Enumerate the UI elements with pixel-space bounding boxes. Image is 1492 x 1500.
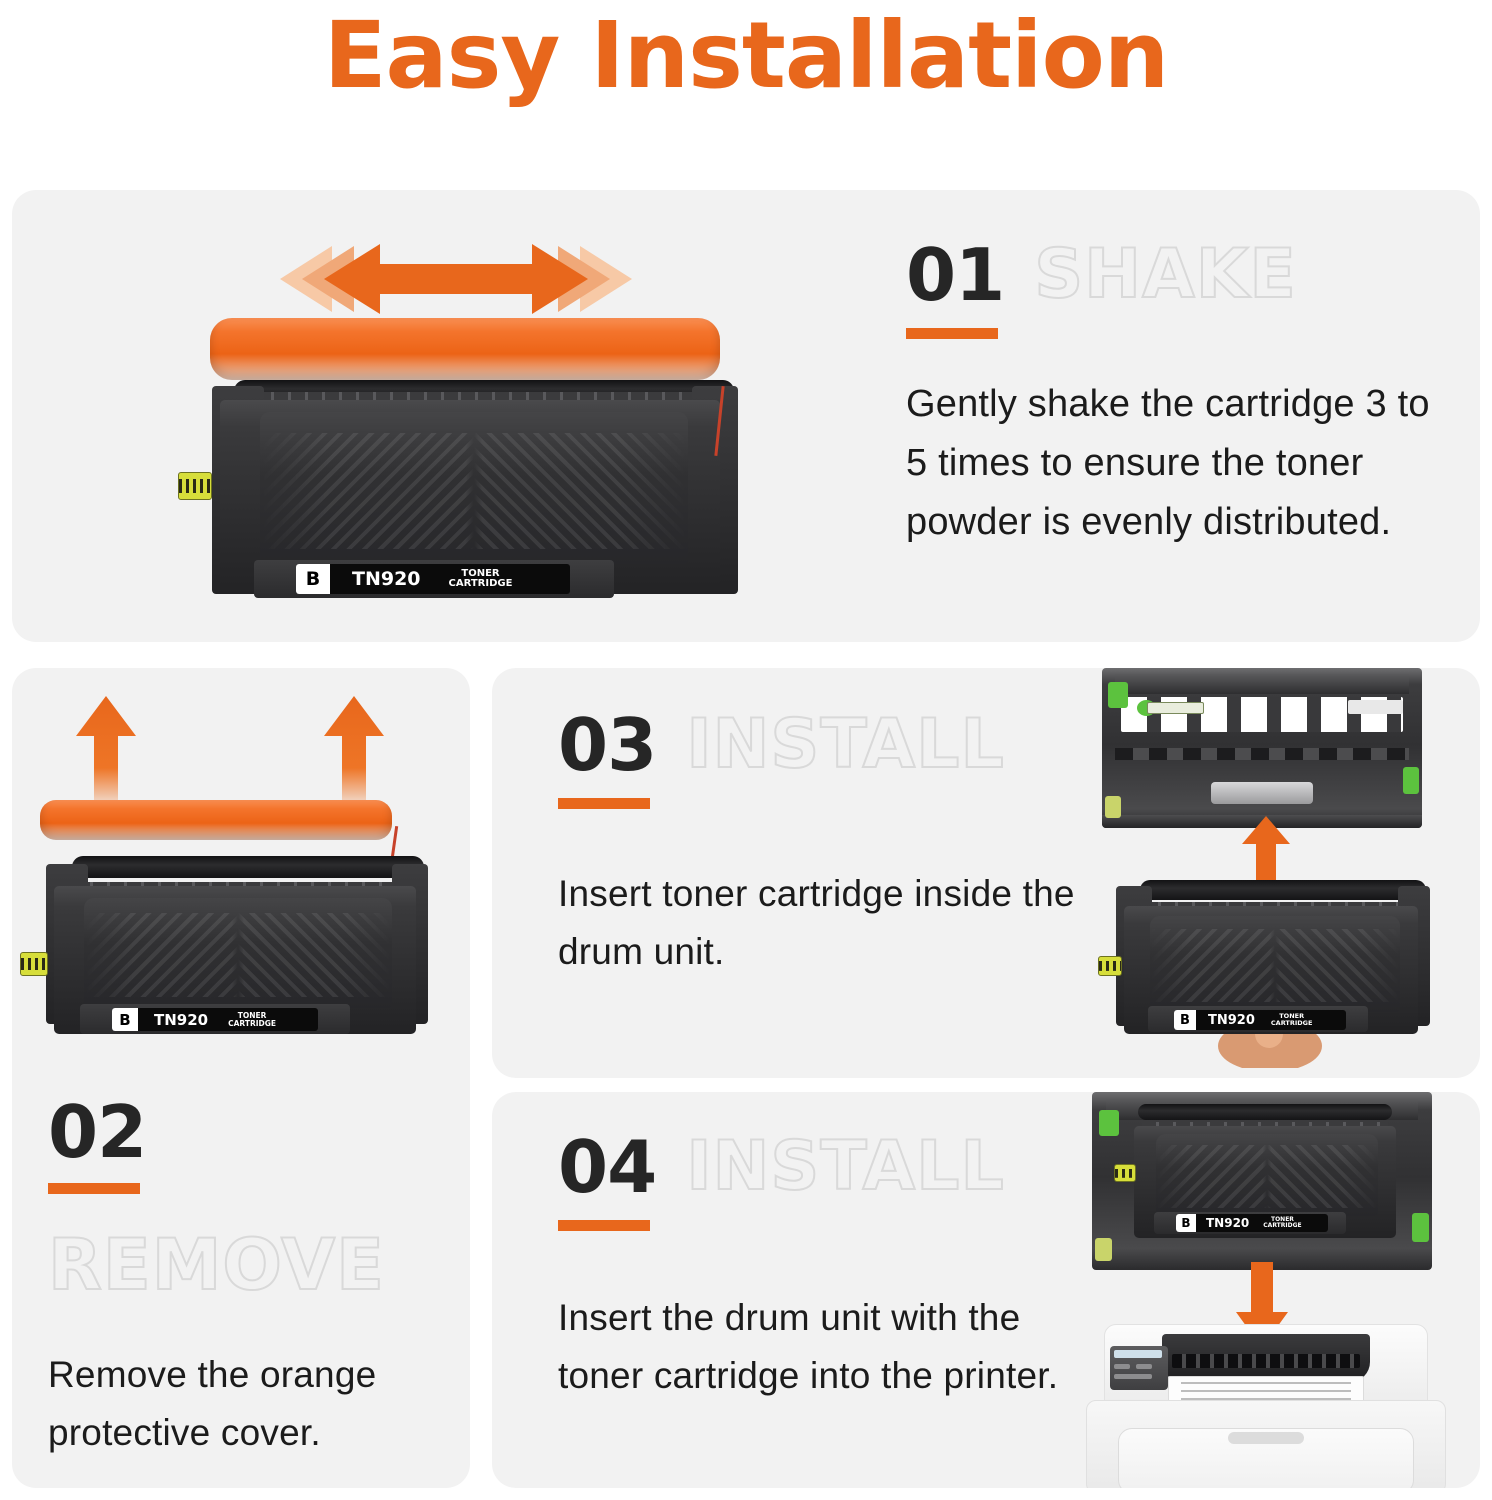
step-header-04: 04 INSTALL bbox=[558, 1130, 1098, 1204]
cartridge-label: B TN920 TONER CARTRIDGE bbox=[1176, 1214, 1328, 1232]
step-rule-04 bbox=[558, 1220, 650, 1231]
step-body-02: Remove the orange protective cover. bbox=[48, 1346, 448, 1462]
label-type-line2: CARTRIDGE bbox=[228, 1020, 276, 1028]
step-body-01: Gently shake the cartridge 3 to 5 times … bbox=[906, 375, 1446, 552]
chevron-texture-right bbox=[260, 433, 688, 549]
label-model: TN920 bbox=[1206, 1216, 1249, 1230]
step-number-01: 01 bbox=[906, 238, 1004, 312]
step-header-01: 01 SHAKE bbox=[906, 238, 1446, 312]
label-color-code: B bbox=[1176, 1214, 1196, 1232]
drum-roller bbox=[1140, 880, 1426, 900]
easy-installation-infographic: Easy Installation bbox=[0, 0, 1492, 1500]
step-keyword-03: INSTALL bbox=[686, 708, 1005, 782]
drum-center-tray bbox=[1211, 782, 1313, 804]
label-model: TN920 bbox=[154, 1011, 208, 1029]
step-number-02: 02 bbox=[48, 1095, 448, 1169]
label-type: TONER CARTRIDGE bbox=[449, 569, 513, 590]
cartridge-label: B TN920 TONER CARTRIDGE bbox=[296, 564, 570, 594]
label-type: TONER CARTRIDGE bbox=[228, 1012, 276, 1028]
green-lever-bottom-right bbox=[1403, 767, 1419, 794]
cartridge-textured-face bbox=[1150, 916, 1400, 1012]
cartridge-label: B TN920 TONER CARTRIDGE bbox=[1174, 1010, 1346, 1030]
drum-badge bbox=[1348, 700, 1402, 714]
laser-printer-illustration bbox=[1076, 1324, 1452, 1488]
toner-cartridge-illustration-uncovered: B TN920 TONER CARTRIDGE bbox=[20, 856, 440, 1072]
step-text-02: 02 REMOVE Remove the orange protective c… bbox=[48, 1095, 448, 1462]
toner-cartridge-illustration: B TN920 TONER CARTRIDGE bbox=[172, 308, 752, 608]
printer-button-2[interactable] bbox=[1136, 1364, 1152, 1369]
label-type: TONER CARTRIDGE bbox=[1271, 1013, 1313, 1027]
step-text-04: 04 INSTALL Insert the drum unit with the… bbox=[558, 1130, 1098, 1405]
step-text-03: 03 INSTALL Insert toner cartridge inside… bbox=[558, 708, 1078, 981]
step-rule-01 bbox=[906, 328, 998, 339]
drum-white-slider-track bbox=[1147, 702, 1205, 715]
toner-chip bbox=[1114, 1164, 1136, 1182]
label-color-code: B bbox=[112, 1008, 138, 1031]
step-keyword-04: INSTALL bbox=[686, 1130, 1005, 1204]
step-body-03: Insert toner cartridge inside the drum u… bbox=[558, 865, 1078, 981]
step-number-03: 03 bbox=[558, 708, 656, 782]
green-lever-bottom-right bbox=[1412, 1213, 1429, 1241]
label-type: TONER CARTRIDGE bbox=[1263, 1217, 1301, 1230]
printer-button-1[interactable] bbox=[1114, 1364, 1130, 1369]
label-type-line2: CARTRIDGE bbox=[449, 579, 513, 590]
toner-chip bbox=[178, 472, 212, 500]
step-header-03: 03 INSTALL bbox=[558, 708, 1078, 782]
up-arrow-icon bbox=[1240, 816, 1292, 886]
label-type-line2: CARTRIDGE bbox=[1271, 1020, 1313, 1027]
drum-roller bbox=[72, 856, 424, 878]
step-keyword-02: REMOVE bbox=[48, 1228, 448, 1302]
page-title: Easy Installation bbox=[0, 2, 1492, 110]
toner-chip bbox=[1098, 956, 1122, 976]
printer-lcd-display bbox=[1114, 1350, 1162, 1358]
chevron-texture-right bbox=[1156, 1145, 1378, 1207]
step-rule-03 bbox=[558, 798, 650, 809]
toner-cartridge-inside-drum: B TN920 TONER CARTRIDGE bbox=[1114, 1104, 1414, 1256]
printer-button-3[interactable] bbox=[1114, 1374, 1152, 1379]
cartridge-textured-face bbox=[1156, 1134, 1378, 1216]
chevron-texture-right bbox=[1150, 929, 1400, 1002]
up-arrow-left-icon bbox=[74, 696, 138, 812]
green-lever-top-left bbox=[1108, 682, 1127, 708]
step-keyword-01: SHAKE bbox=[1034, 238, 1297, 312]
step-number-04: 04 bbox=[558, 1130, 656, 1204]
up-arrow-right-icon bbox=[322, 696, 386, 812]
toner-chip bbox=[20, 952, 48, 976]
printer-drawer-handle[interactable] bbox=[1228, 1432, 1304, 1444]
label-type-line2: CARTRIDGE bbox=[1263, 1223, 1301, 1229]
drum-unit-illustration bbox=[1102, 668, 1422, 828]
label-model: TN920 bbox=[352, 568, 421, 590]
green-lever-bottom-left bbox=[1105, 796, 1121, 818]
toner-cartridge-illustration: B TN920 TONER CARTRIDGE bbox=[1098, 880, 1438, 1060]
printer-tray-teeth bbox=[1172, 1354, 1360, 1368]
cartridge-textured-face bbox=[260, 412, 688, 564]
detached-orange-protective-cover bbox=[40, 800, 392, 840]
chevron-texture-right bbox=[84, 913, 392, 997]
label-color-code: B bbox=[1174, 1010, 1196, 1030]
cartridge-label: B TN920 TONER CARTRIDGE bbox=[112, 1008, 318, 1031]
drum-slot-band bbox=[1115, 748, 1409, 760]
step-text-01: 01 SHAKE Gently shake the cartridge 3 to… bbox=[906, 238, 1446, 552]
step-rule-02 bbox=[48, 1183, 140, 1194]
label-color-code: B bbox=[296, 564, 330, 594]
drum-roller bbox=[1138, 1104, 1392, 1120]
label-model: TN920 bbox=[1208, 1013, 1255, 1028]
step-body-04: Insert the drum unit with the toner cart… bbox=[558, 1289, 1098, 1405]
orange-protective-cover bbox=[210, 318, 720, 380]
drum-top-bar bbox=[1115, 674, 1409, 693]
cartridge-textured-face bbox=[84, 898, 392, 1008]
